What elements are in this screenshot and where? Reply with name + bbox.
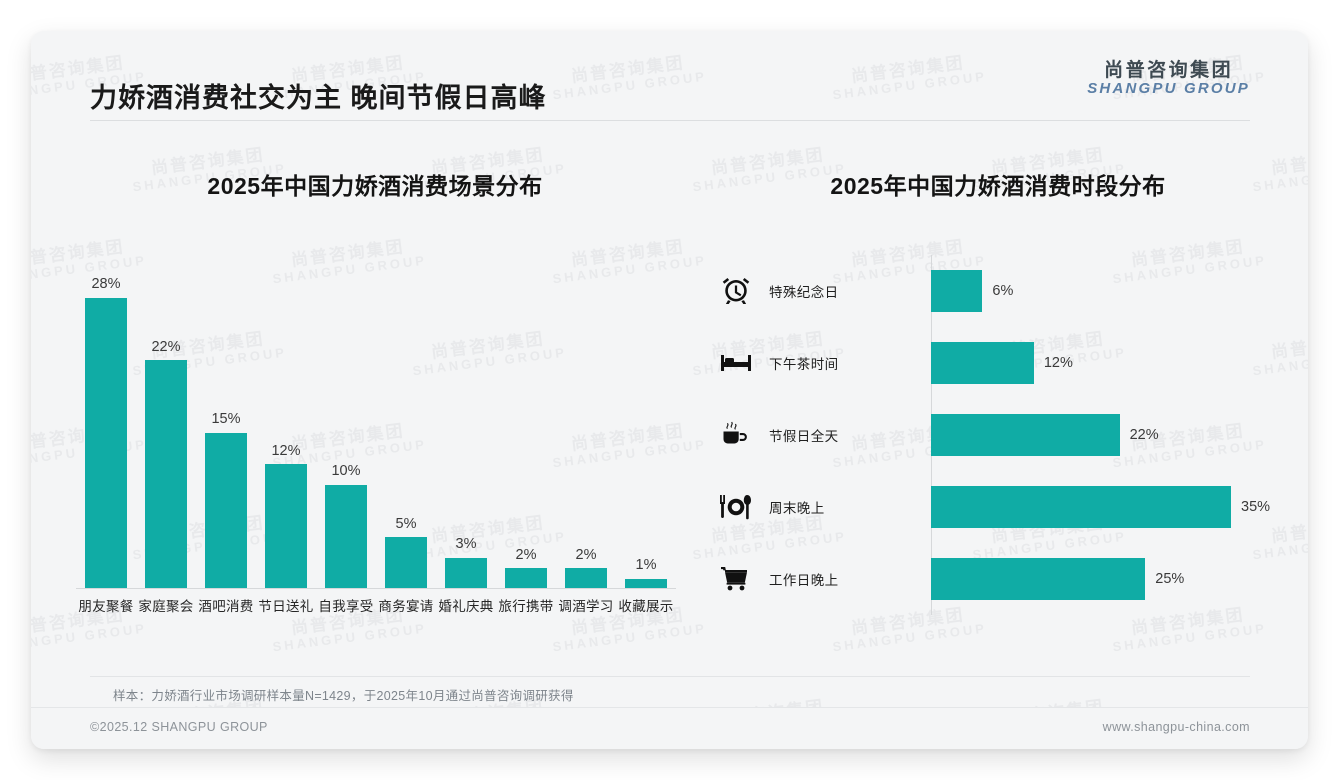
horizontal-bar-rect[interactable]	[931, 270, 982, 312]
horizontal-bar-category-label: 工作日晚上	[769, 569, 931, 589]
vertical-bar-category-label: 旅行携带	[496, 595, 556, 615]
vertical-bar-value-label: 15%	[211, 412, 240, 427]
dinner-plate-icon	[703, 493, 769, 521]
vertical-bar-value-label: 2%	[516, 548, 537, 563]
vertical-bar-rect[interactable]	[565, 568, 607, 589]
vertical-bar-category-label: 家庭聚会	[136, 595, 196, 615]
horizontal-bar-track: 22%	[931, 399, 1293, 471]
vertical-bar-rect[interactable]	[85, 298, 127, 589]
vertical-bar-value-label: 28%	[91, 277, 120, 292]
slide-header: 力娇酒消费社交为主 晚间节假日高峰 尚普咨询集团 SHANGPU GROUP	[31, 31, 1308, 121]
vertical-bar-rect[interactable]	[385, 537, 427, 589]
horizontal-bar-item[interactable]: 工作日晚上25%	[703, 543, 1293, 615]
horizontal-bar-category-label: 下午茶时间	[769, 353, 931, 373]
vertical-bar-value-label: 12%	[271, 444, 300, 459]
alarm-clock-icon	[703, 276, 769, 306]
header-divider	[90, 120, 1250, 121]
copyright-text: ©2025.12 SHANGPU GROUP	[90, 720, 268, 734]
vertical-bar-item[interactable]: 1%	[616, 257, 676, 589]
horizontal-bar-rect[interactable]	[931, 486, 1231, 528]
vertical-bar-category-label: 商务宴请	[376, 595, 436, 615]
vertical-bar-value-label: 10%	[331, 464, 360, 479]
vertical-bar-category-label: 节日送礼	[256, 595, 316, 615]
horizontal-bar-value-label: 6%	[992, 283, 1013, 299]
vertical-bar-item[interactable]: 3%	[436, 257, 496, 589]
horizontal-bar-track: 12%	[931, 327, 1293, 399]
vertical-bar-item[interactable]: 2%	[556, 257, 616, 589]
vertical-bar-item[interactable]: 15%	[196, 257, 256, 589]
horizontal-bar-item[interactable]: 下午茶时间12%	[703, 327, 1293, 399]
horizontal-bar-series: 特殊纪念日6%下午茶时间12%节假日全天22%周末晚上35%工作日晚上25%	[703, 255, 1293, 615]
vertical-bar-baseline	[76, 588, 676, 589]
shopping-cart-icon	[703, 565, 769, 593]
vertical-bar-value-label: 3%	[456, 537, 477, 552]
chart-title-consumption-scene: 2025年中国力娇酒消费场景分布	[45, 167, 705, 201]
vertical-bar-rect[interactable]	[205, 433, 247, 589]
vertical-bar-category-label: 自我享受	[316, 595, 376, 615]
horizontal-bar-rect[interactable]	[931, 342, 1034, 384]
vertical-bar-category-label: 收藏展示	[616, 595, 676, 615]
vertical-bar-plot: 28%22%15%12%10%5%3%2%2%1%	[76, 257, 676, 589]
vertical-bar-category-label: 酒吧消费	[196, 595, 256, 615]
vertical-bar-item[interactable]: 22%	[136, 257, 196, 589]
horizontal-bar-category-label: 节假日全天	[769, 425, 931, 445]
horizontal-bar-value-label: 25%	[1155, 571, 1184, 587]
vertical-bar-rect[interactable]	[445, 558, 487, 589]
vertical-bar-rect[interactable]	[325, 485, 367, 589]
horizontal-bar-category-label: 周末晚上	[769, 497, 931, 517]
vertical-bar-value-label: 22%	[151, 340, 180, 355]
brand-name-cn: 尚普咨询集团	[1087, 60, 1250, 81]
vertical-bar-category-axis: 朋友聚餐家庭聚会酒吧消费节日送礼自我享受商务宴请婚礼庆典旅行携带调酒学习收藏展示	[76, 595, 676, 615]
horizontal-bar-value-label: 35%	[1241, 499, 1270, 515]
vertical-bar-item[interactable]: 12%	[256, 257, 316, 589]
vertical-bar-category-label: 调酒学习	[556, 595, 616, 615]
vertical-bar-item[interactable]: 5%	[376, 257, 436, 589]
vertical-bar-rect[interactable]	[145, 360, 187, 589]
brand-logo: 尚普咨询集团 SHANGPU GROUP	[1087, 60, 1250, 98]
horizontal-bar-value-label: 22%	[1130, 427, 1159, 443]
horizontal-bar-rect[interactable]	[931, 414, 1120, 456]
vertical-bar-category-label: 朋友聚餐	[76, 595, 136, 615]
vertical-bar-rect[interactable]	[265, 464, 307, 589]
vertical-bar-item[interactable]: 28%	[76, 257, 136, 589]
horizontal-bar-category-label: 特殊纪念日	[769, 281, 931, 301]
vertical-bar-value-label: 2%	[576, 548, 597, 563]
vertical-bar-value-label: 1%	[636, 558, 657, 573]
brand-name-en: SHANGPU GROUP	[1087, 81, 1250, 98]
vertical-bar-item[interactable]: 2%	[496, 257, 556, 589]
vertical-bar-series: 28%22%15%12%10%5%3%2%2%1%	[76, 257, 676, 589]
slide-card: 尚普咨询集团SHANGPU GROUP尚普咨询集团SHANGPU GROUP尚普…	[31, 31, 1308, 749]
horizontal-bar-item[interactable]: 周末晚上35%	[703, 471, 1293, 543]
horizontal-bar-value-label: 12%	[1044, 355, 1073, 371]
horizontal-bar-track: 25%	[931, 543, 1293, 615]
chart-panel-consumption-scene: 2025年中国力娇酒消费场景分布 28%22%15%12%10%5%3%2%2%…	[45, 167, 705, 637]
vertical-bar-item[interactable]: 10%	[316, 257, 376, 589]
vertical-bar-rect[interactable]	[505, 568, 547, 589]
vertical-bar-value-label: 5%	[396, 517, 417, 532]
horizontal-bar-track: 35%	[931, 471, 1293, 543]
footnote-divider	[90, 676, 1250, 677]
horizontal-bar-item[interactable]: 特殊纪念日6%	[703, 255, 1293, 327]
vertical-bar-category-label: 婚礼庆典	[436, 595, 496, 615]
horizontal-bar-item[interactable]: 节假日全天22%	[703, 399, 1293, 471]
slide-footer: ©2025.12 SHANGPU GROUP www.shangpu-china…	[31, 708, 1308, 749]
footnote-text: 样本：力娇酒行业市场调研样本量N=1429，于2025年10月通过尚普咨询调研获…	[113, 685, 574, 704]
bed-icon	[703, 351, 769, 375]
horizontal-bar-rect[interactable]	[931, 558, 1145, 600]
website-link[interactable]: www.shangpu-china.com	[1103, 720, 1250, 734]
coffee-cup-icon	[703, 420, 769, 450]
chart-title-consumption-time: 2025年中国力娇酒消费时段分布	[703, 167, 1293, 201]
page-title: 力娇酒消费社交为主 晚间节假日高峰	[90, 76, 547, 115]
infographic-stage: 尚普咨询集团SHANGPU GROUP尚普咨询集团SHANGPU GROUP尚普…	[0, 0, 1340, 780]
horizontal-bar-track: 6%	[931, 255, 1293, 327]
chart-panel-consumption-time: 2025年中国力娇酒消费时段分布 特殊纪念日6%下午茶时间12%节假日全天22%…	[703, 167, 1293, 637]
